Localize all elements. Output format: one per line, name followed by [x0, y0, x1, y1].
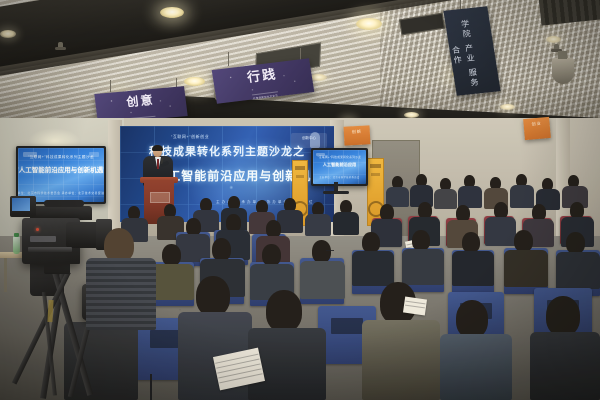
audience-head [462, 232, 480, 253]
backdrop-logo: 创新中心 [291, 133, 327, 148]
audience-head-foreground [266, 290, 302, 332]
downlight [546, 36, 561, 43]
speaker-tie [157, 159, 159, 169]
audience-head [212, 238, 231, 261]
viewfinder-screen [12, 198, 30, 211]
audience-torso [305, 214, 331, 236]
rollup-text-line [295, 166, 305, 170]
audience-torso [352, 251, 394, 286]
camera-viewfinder [10, 196, 36, 217]
rollup-text-line [371, 173, 380, 176]
monitor-right: "互联网+"科技成果转化系列沙龙 人工智能前沿应用 主办单位：北京市科学技术委员… [311, 148, 368, 186]
handout-paper[interactable] [403, 297, 427, 316]
audience-torso [556, 252, 600, 289]
audience-head [514, 230, 533, 252]
audience-torso [300, 261, 345, 299]
downlight [500, 104, 515, 110]
backdrop-figure-graphic [310, 132, 320, 148]
slide-title: "人工智能前沿应用与创新机遇" [18, 164, 104, 174]
backdrop-logo-text: 创新中心 [291, 133, 327, 140]
paper-line [406, 301, 426, 305]
camera-control-panel[interactable] [30, 236, 56, 242]
monitor-left-screen: "互联网+"科技成果转化系列主题沙龙 "人工智能前沿应用与创新机遇" 主办单位：… [18, 148, 104, 202]
audience-head [262, 244, 281, 266]
slide-header: "互联网+"科技成果转化系列沙龙 [318, 155, 361, 159]
audience-torso [504, 250, 548, 287]
audience-head-foreground [456, 300, 488, 338]
paper-line [405, 305, 425, 309]
audience-torso-foreground [440, 334, 512, 400]
audience-torso-foreground [362, 320, 440, 400]
downlight [160, 7, 184, 18]
audience-head [566, 232, 585, 254]
security-camera-icon [552, 58, 574, 84]
slide-header: "互联网+"科技成果转化系列主题沙龙 [28, 155, 94, 160]
audience-torso [333, 212, 359, 235]
audience-torso [434, 189, 457, 209]
audience-torso [485, 217, 516, 246]
smoke-detector-icon [554, 44, 559, 51]
downlight [356, 18, 382, 30]
audience-torso-foreground [530, 332, 600, 400]
camera-operator-torso [86, 258, 156, 330]
podium-nameplate [150, 192, 170, 203]
banner-hanger [110, 80, 111, 92]
rollup-text-line [370, 164, 381, 168]
conference-hall-photo: 创意 北京创新创业文化节 行践 北京创新创业文化节 学院 产业 服务 合作 "互… [0, 0, 600, 400]
camera-carry-handle[interactable] [44, 200, 84, 207]
camera-lens [66, 222, 100, 248]
monitor-right-base [323, 191, 349, 194]
downlight [184, 77, 205, 86]
banner-hanger [228, 52, 229, 66]
audience-torso [452, 251, 494, 286]
table-leg [4, 258, 7, 292]
monitor-right-screen: "互联网+"科技成果转化系列沙龙 人工智能前沿应用 主办单位：北京市科学技术委员… [313, 150, 366, 184]
audience-head [362, 232, 380, 253]
audience-torso [510, 185, 534, 208]
audience-torso [402, 249, 444, 285]
orange-banner-right: 创业 [523, 117, 551, 140]
chair-leg [150, 374, 152, 400]
rollup-text-line [296, 175, 304, 178]
smoke-detector-icon [58, 42, 63, 49]
downlight [0, 30, 16, 38]
water-bottle[interactable] [13, 236, 20, 254]
audience-head-foreground [196, 276, 230, 316]
recording-indicator-icon [36, 228, 39, 231]
orange-banner-left: 创新 [344, 125, 371, 145]
slide-title: 人工智能前沿应用 [323, 162, 357, 168]
camera-base-plate [28, 247, 72, 252]
camera-operator-head [104, 228, 134, 262]
speaker-hair [152, 145, 163, 151]
eyeglasses-icon [326, 250, 334, 253]
bottle-cap [14, 233, 19, 237]
slide-subtitle: 主办单位：北京市科学技术委员会 承办单位：北京技术交易促进中心 [18, 191, 104, 195]
backdrop-subtitle: "互联网+"创新创业 [130, 134, 250, 140]
audience-head [412, 230, 430, 251]
audience-torso [150, 264, 194, 300]
audience-head-foreground [546, 296, 580, 336]
slide-subtitle: 主办单位：北京市科学技术委员会 [319, 176, 359, 180]
audience-head [162, 244, 181, 266]
